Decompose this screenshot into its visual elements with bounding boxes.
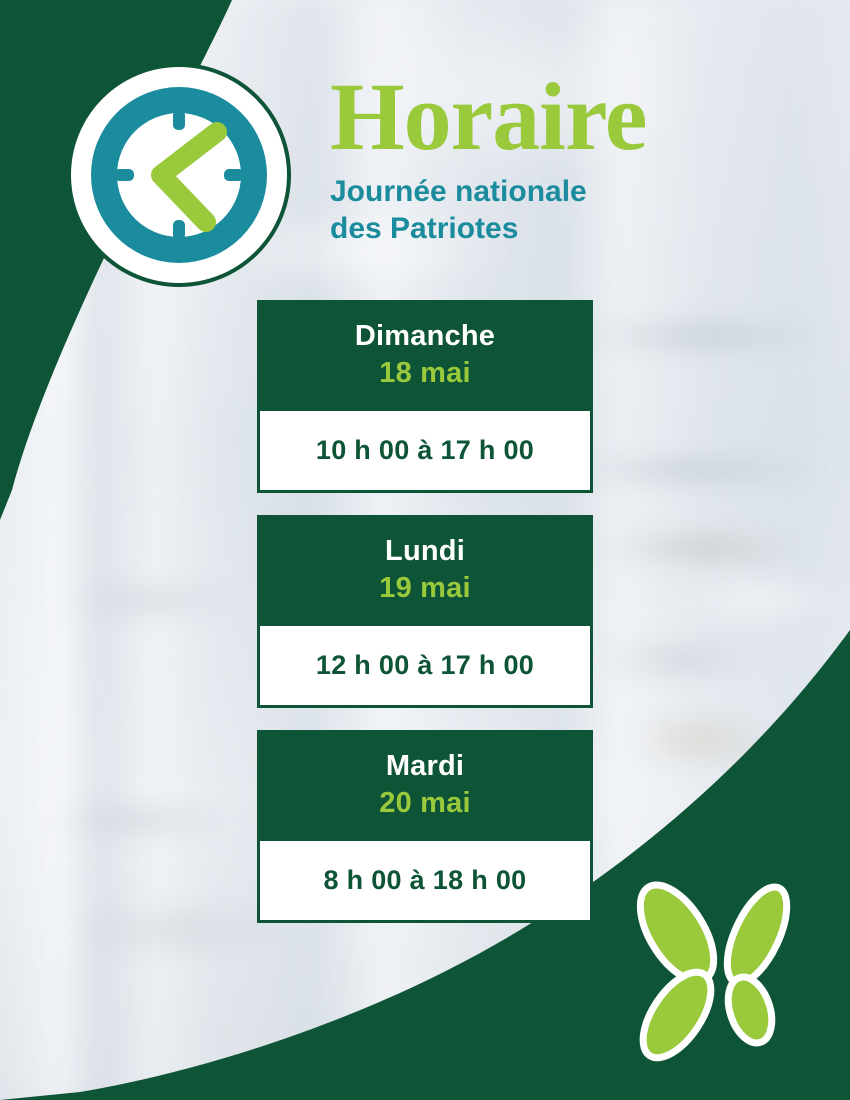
schedule-list: Dimanche 18 mai 10 h 00 à 17 h 00 Lundi … — [257, 300, 593, 945]
schedule-day: Mardi — [271, 750, 579, 783]
page-title: Horaire — [330, 70, 810, 164]
schedule-card-header: Dimanche 18 mai — [257, 300, 593, 411]
schedule-day: Dimanche — [271, 320, 579, 353]
schedule-date: 19 mai — [271, 571, 579, 606]
title-block: Horaire Journée nationale des Patriotes — [330, 70, 810, 247]
schedule-card: Dimanche 18 mai 10 h 00 à 17 h 00 — [257, 300, 593, 493]
schedule-card-header: Lundi 19 mai — [257, 515, 593, 626]
schedule-hours: 10 h 00 à 17 h 00 — [257, 411, 593, 493]
horaire-poster: Horaire Journée nationale des Patriotes … — [0, 0, 850, 1100]
page-subtitle: Journée nationale des Patriotes — [330, 174, 660, 247]
schedule-day: Lundi — [271, 535, 579, 568]
schedule-card: Mardi 20 mai 8 h 00 à 18 h 00 — [257, 730, 593, 923]
clock-icon — [64, 60, 294, 290]
butterfly-logo-icon — [613, 875, 828, 1070]
schedule-card: Lundi 19 mai 12 h 00 à 17 h 00 — [257, 515, 593, 708]
poster-header: Horaire Journée nationale des Patriotes — [0, 52, 850, 292]
schedule-date: 20 mai — [271, 786, 579, 821]
subtitle-line-1: Journée nationale — [330, 174, 660, 211]
schedule-date: 18 mai — [271, 356, 579, 391]
schedule-hours: 8 h 00 à 18 h 00 — [257, 841, 593, 923]
schedule-card-header: Mardi 20 mai — [257, 730, 593, 841]
subtitle-line-2: des Patriotes — [330, 211, 660, 248]
schedule-hours: 12 h 00 à 17 h 00 — [257, 626, 593, 708]
